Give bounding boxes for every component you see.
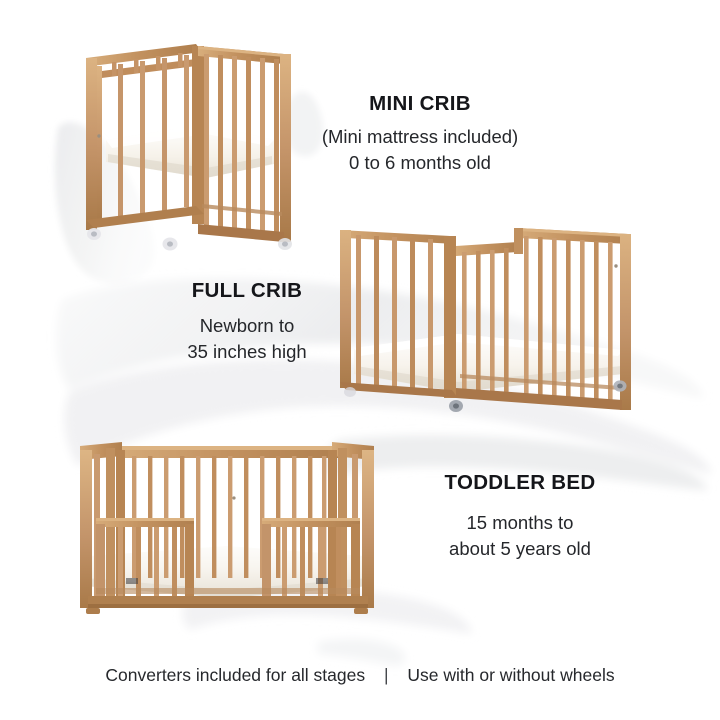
stage-description-line: 35 inches high bbox=[152, 339, 342, 365]
footer-note: Converters included for all stages | Use… bbox=[0, 665, 720, 686]
stage-label-mini-crib: MINI CRIB (Mini mattress included) 0 to … bbox=[296, 92, 544, 176]
stage-description-full-crib: Newborn to 35 inches high bbox=[152, 313, 342, 366]
stage-label-toddler-bed: TODDLER BED 15 months to about 5 years o… bbox=[402, 471, 638, 562]
product-stages-infographic: MINI CRIB (Mini mattress included) 0 to … bbox=[0, 0, 720, 720]
toddler-bed-photo bbox=[66, 428, 388, 626]
footer-text-right: Use with or without wheels bbox=[407, 665, 614, 685]
stage-title-toddler-bed: TODDLER BED bbox=[402, 471, 638, 496]
mini-crib-photo bbox=[78, 28, 296, 252]
stage-description-line: Newborn to bbox=[152, 313, 342, 339]
stage-label-full-crib: FULL CRIB Newborn to 35 inches high bbox=[152, 279, 342, 365]
footer-text-left: Converters included for all stages bbox=[105, 665, 365, 685]
stage-title-mini-crib: MINI CRIB bbox=[296, 92, 544, 117]
stage-description-mini-crib: (Mini mattress included) 0 to 6 months o… bbox=[296, 124, 544, 177]
stage-description-toddler-bed: 15 months to about 5 years old bbox=[402, 510, 638, 563]
full-crib-photo bbox=[332, 216, 634, 424]
stage-description-line: (Mini mattress included) bbox=[296, 124, 544, 150]
stage-description-line: 0 to 6 months old bbox=[296, 150, 544, 176]
stage-title-full-crib: FULL CRIB bbox=[152, 279, 342, 304]
footer-separator: | bbox=[384, 665, 389, 686]
stage-description-line: about 5 years old bbox=[402, 536, 638, 562]
stage-description-line: 15 months to bbox=[402, 510, 638, 536]
